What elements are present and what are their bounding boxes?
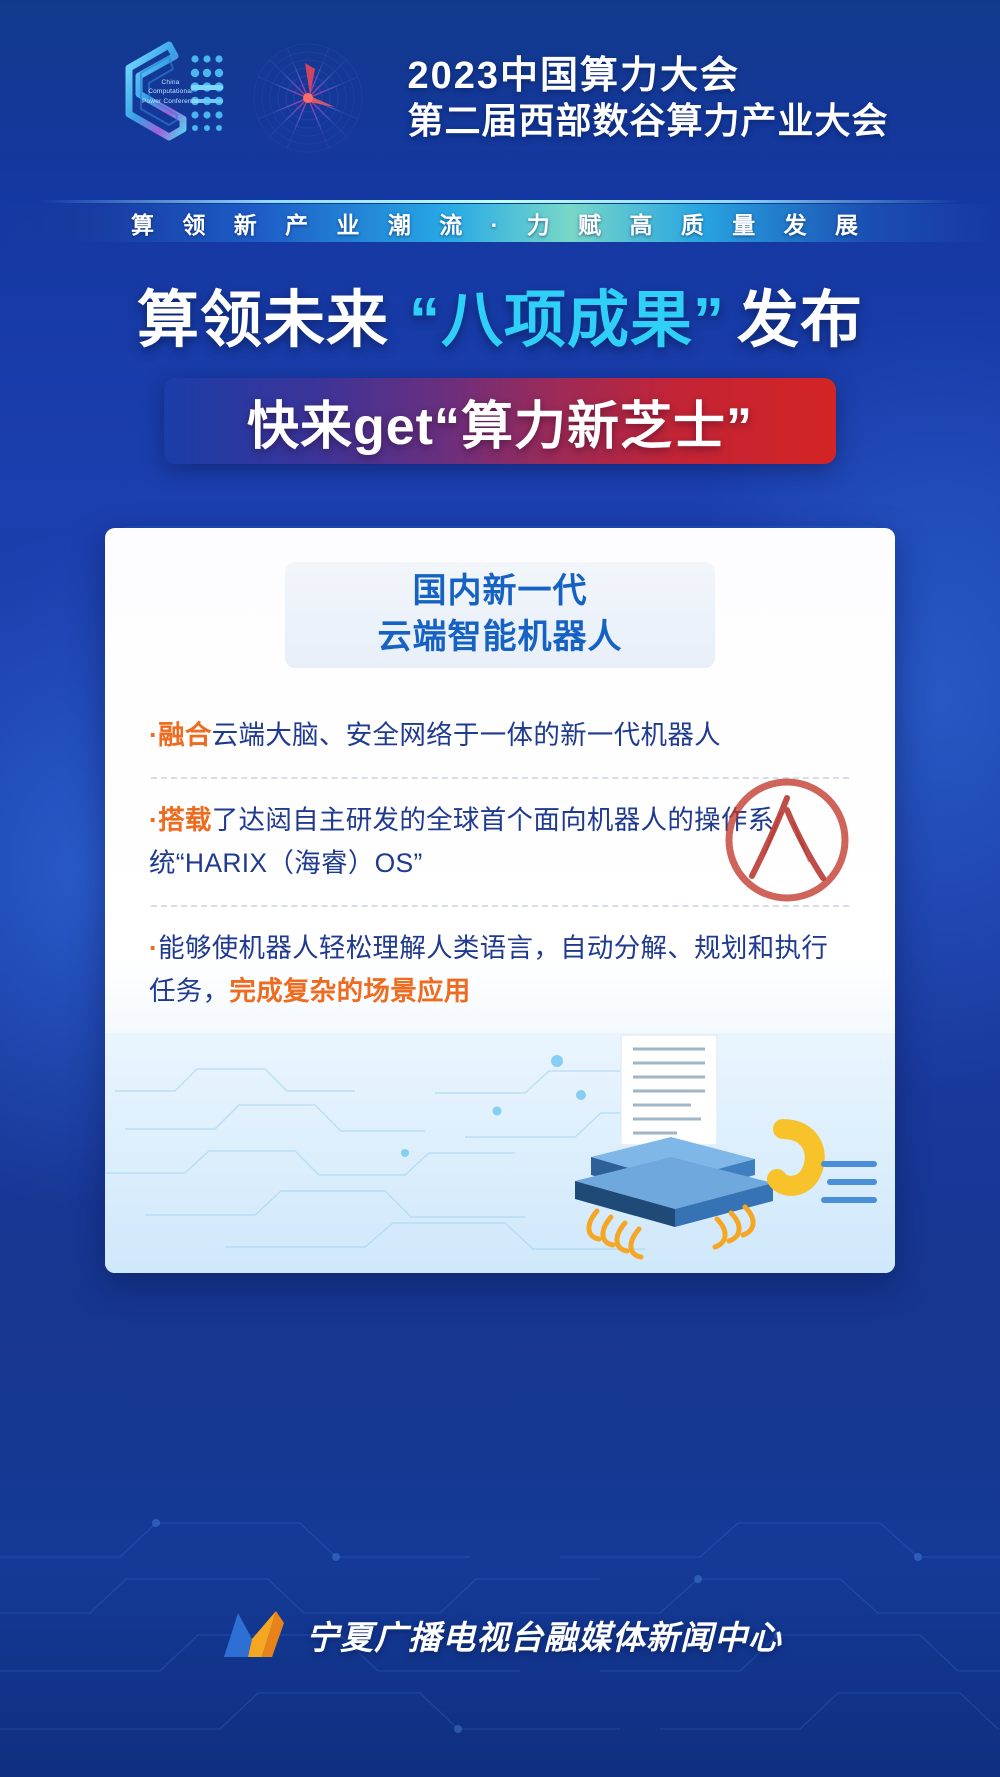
headline-line1-part3: 发布 xyxy=(737,286,863,355)
content-card-zone: 国内新一代 云端智能机器人 ·融合云端大脑、安全网络于一体的新一代机器人 ·搭载… xyxy=(105,528,895,1273)
slogan-bar: 算 领 新 产 业 潮 流 · 力 赋 高 质 量 发 展 xyxy=(0,196,1000,248)
card-bullet-2: ·搭载了达闼自主研发的全球首个面向机器人的操作系统“HARIX（海睿）OS” xyxy=(149,779,851,905)
slogan-text: 算 领 新 产 业 潮 流 · 力 赋 高 质 量 发 展 xyxy=(0,206,1000,240)
poster-footer: 宁夏广播电视台融媒体新闻中心 xyxy=(0,1547,1000,1777)
bullet-1-highlight: 融合 xyxy=(158,720,212,750)
radial-fan-logo xyxy=(243,35,373,161)
china-computational-power-conference-hex-logo: China Computational Power Conference xyxy=(111,35,231,161)
card-bullet-1: ·融合云端大脑、安全网络于一体的新一代机器人 xyxy=(149,694,851,777)
card-illustration xyxy=(105,1033,895,1273)
header-title-group: 2023中国算力大会 第二届西部数谷算力产业大会 xyxy=(407,53,888,143)
headline-zone: 算领未来“八项成果”发布 快来get“算力新芝士” xyxy=(0,290,1000,464)
card-title-line1: 国内新一代 xyxy=(413,569,588,615)
headline-line1-part2: “八项成果” xyxy=(409,286,725,355)
slogan-top-line xyxy=(40,200,960,203)
header-title-line2: 第二届西部数谷算力产业大会 xyxy=(407,99,888,143)
hex-logo-caption: China Computational Power Conference xyxy=(141,78,199,106)
card-body: ·融合云端大脑、安全网络于一体的新一代机器人 ·搭载了达闼自主研发的全球首个面向… xyxy=(105,668,895,1033)
bullet-marker: · xyxy=(149,805,158,835)
headline-line1: 算领未来“八项成果”发布 xyxy=(0,290,1000,352)
bullet-marker: · xyxy=(149,720,158,750)
bullet-1-text: 云端大脑、安全网络于一体的新一代机器人 xyxy=(212,720,721,750)
nxtv-n-logo-icon xyxy=(218,1605,290,1665)
bullet-3-tail-highlight: 完成复杂的场景应用 xyxy=(229,976,470,1006)
headline-line1-part1: 算领未来 xyxy=(137,286,389,355)
headline-line2: 快来get“算力新芝士” xyxy=(247,384,753,459)
content-card: 国内新一代 云端智能机器人 ·融合云端大脑、安全网络于一体的新一代机器人 ·搭载… xyxy=(105,528,895,1273)
footer-channel-name: 宁夏广播电视台融媒体新闻中心 xyxy=(306,1611,782,1659)
bullet-marker: · xyxy=(149,933,158,963)
card-bullet-3: ·能够使机器人轻松理解人类语言，自动分解、规划和执行任务，完成复杂的场景应用 xyxy=(149,907,851,1033)
header-title-line1: 2023中国算力大会 xyxy=(407,53,888,99)
headline-line2-banner: 快来get“算力新芝士” xyxy=(164,378,836,464)
bullet-2-text: 了达闼自主研发的全球首个面向机器人的操作系统“HARIX（海睿）OS” xyxy=(149,805,775,878)
card-title-badge: 国内新一代 云端智能机器人 xyxy=(285,562,715,668)
poster-header: China Computational Power Conference xyxy=(0,0,1000,196)
bullet-2-highlight: 搭载 xyxy=(158,805,212,835)
card-title-line2: 云端智能机器人 xyxy=(378,615,623,661)
